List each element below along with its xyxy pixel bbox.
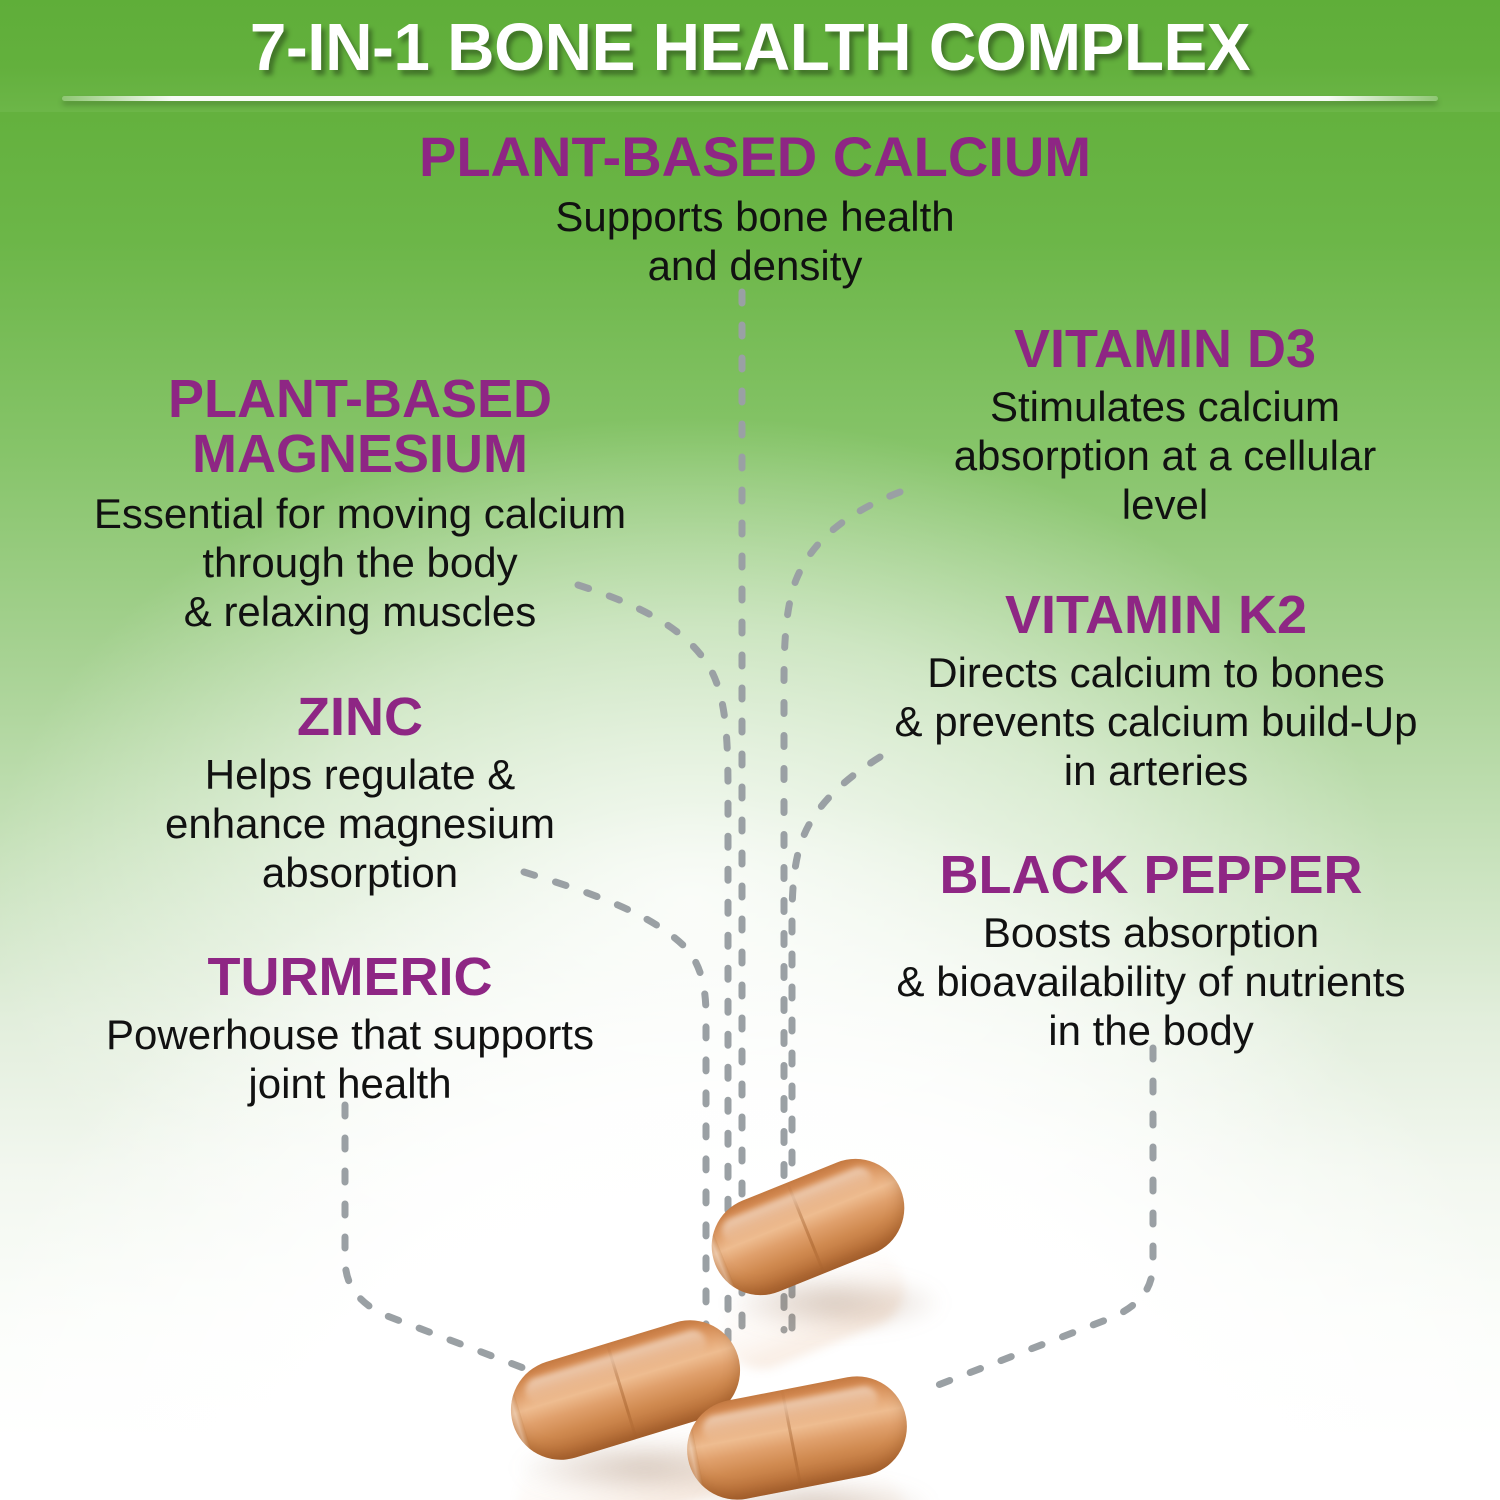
ingredient-name-vitamin-k2: VITAMIN K2 <box>820 588 1492 643</box>
ingredient-name-calcium: PLANT-BASED CALCIUM <box>290 128 1220 185</box>
ingredient-description-turmeric: Powerhouse that supportsjoint health <box>20 1011 680 1108</box>
ingredient-name-magnesium: PLANT-BASEDMAGNESIUM <box>10 372 710 482</box>
ingredient-name-vitamin-d3: VITAMIN D3 <box>840 322 1490 377</box>
ingredient-description-calcium: Supports bone healthand density <box>290 193 1220 290</box>
capsule-gloss-highlight <box>522 1327 709 1407</box>
ingredient-description-black-pepper: Boosts absorption& bioavailability of nu… <box>808 909 1494 1055</box>
ingredient-block-zinc: ZINC Helps regulate &enhance magnesiumab… <box>60 690 660 897</box>
ingredient-block-black-pepper: BLACK PEPPER Boosts absorption& bioavail… <box>808 848 1494 1055</box>
ingredient-name-black-pepper: BLACK PEPPER <box>808 848 1494 903</box>
capsule-gloss-highlight <box>718 1163 876 1247</box>
product-infographic: 7-IN-1 BONE HEALTH COMPLEX PLANT-BASED C… <box>0 0 1500 1500</box>
ingredient-block-turmeric: TURMERIC Powerhouse that supportsjoint h… <box>20 950 680 1109</box>
ingredient-description-zinc: Helps regulate &enhance magnesiumabsorpt… <box>60 751 660 897</box>
ingredient-block-vitamin-k2: VITAMIN K2 Directs calcium to bones& pre… <box>820 588 1492 795</box>
ingredient-block-vitamin-d3: VITAMIN D3 Stimulates calciumabsorption … <box>840 322 1490 529</box>
ingredient-description-vitamin-d3: Stimulates calciumabsorption at a cellul… <box>840 383 1490 529</box>
title-underline-rule <box>62 96 1438 101</box>
ingredient-name-turmeric: TURMERIC <box>20 950 680 1005</box>
page-title: 7-IN-1 BONE HEALTH COMPLEX <box>15 6 1485 90</box>
ingredient-block-calcium: PLANT-BASED CALCIUM Supports bone health… <box>290 128 1220 291</box>
ingredient-block-magnesium: PLANT-BASEDMAGNESIUM Essential for movin… <box>10 372 710 636</box>
ingredient-description-vitamin-k2: Directs calcium to bones& prevents calci… <box>820 649 1492 795</box>
ingredient-description-magnesium: Essential for moving calciumthrough the … <box>10 490 710 636</box>
capsule-group <box>480 1140 1200 1500</box>
ingredient-name-zinc: ZINC <box>60 690 660 745</box>
